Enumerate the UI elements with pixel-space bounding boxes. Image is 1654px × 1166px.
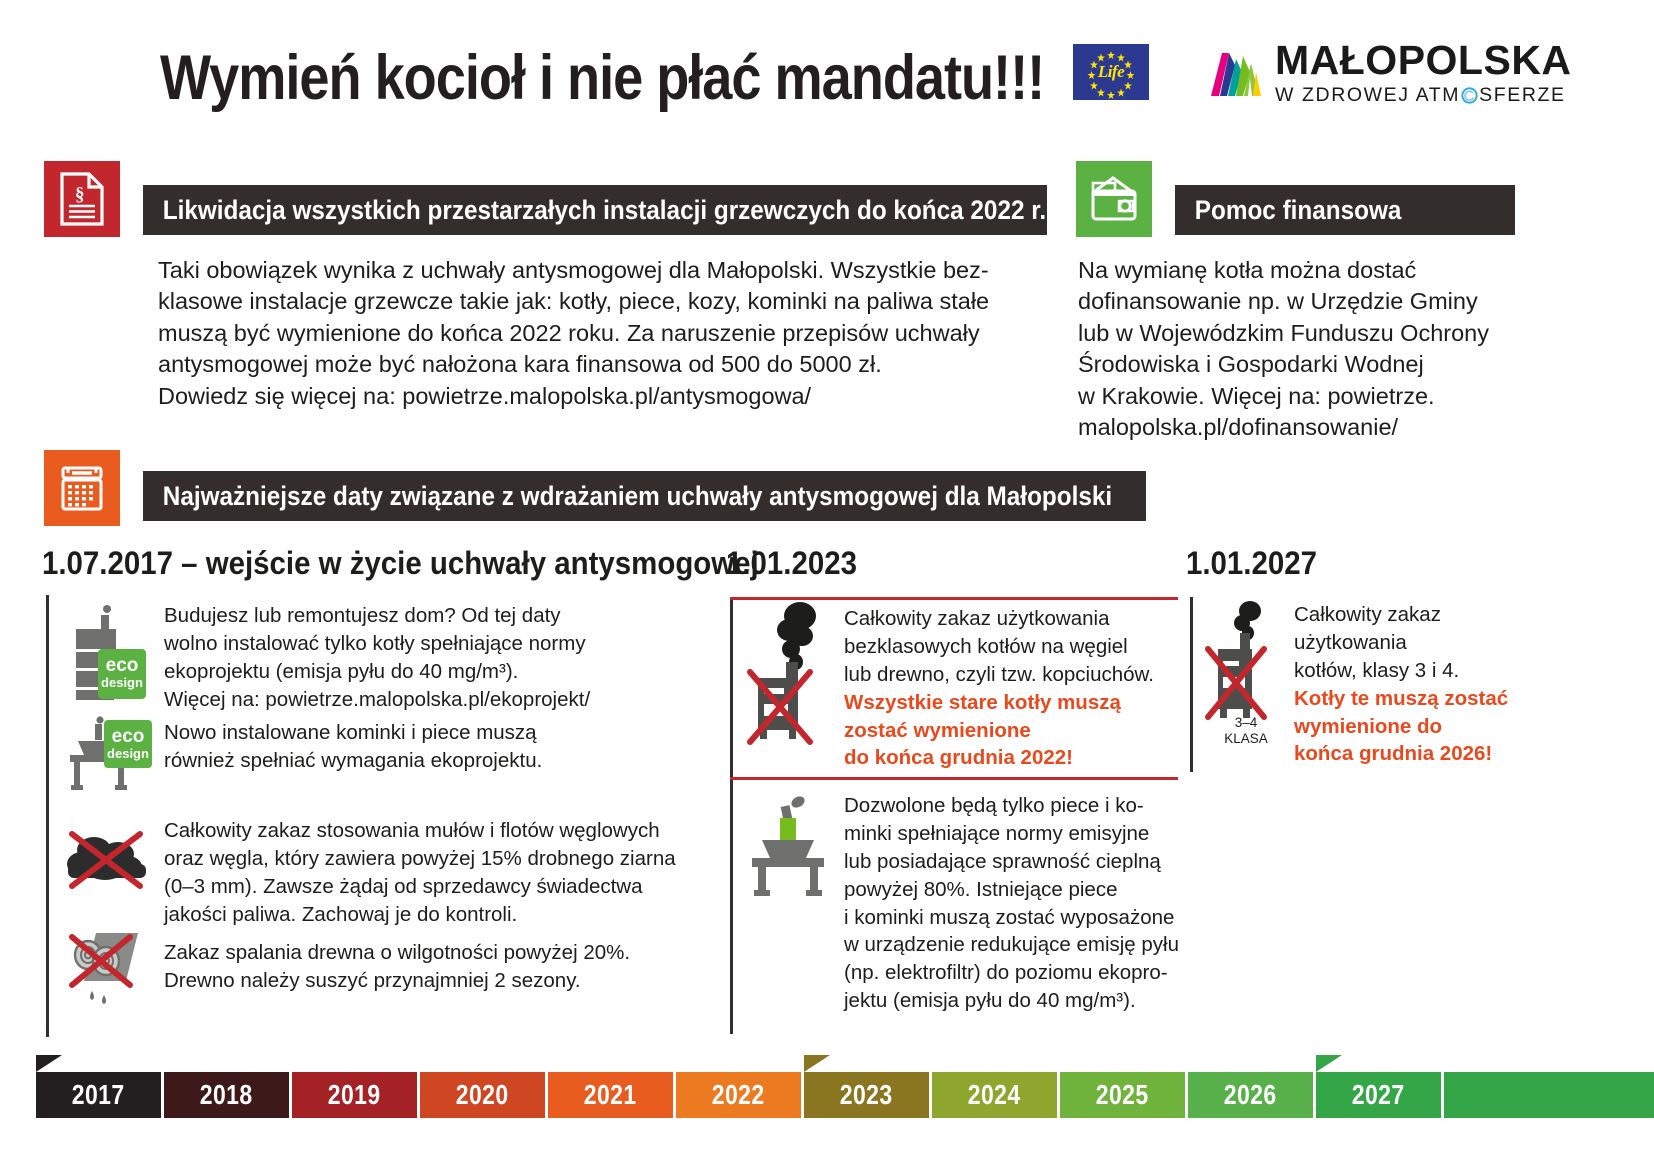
liquidation-line: klasowe instalacje grzewcze takie jak: k… — [158, 286, 989, 317]
item-line: Więcej na: powietrze.malopolska.pl/ekopr… — [164, 686, 590, 714]
coal-banned-icon — [60, 812, 156, 904]
boiler-class-line2: KLASA — [1204, 731, 1288, 747]
item-line: Zakaz spalania drewna o wilgotności powy… — [164, 939, 630, 967]
item-line: użytkowania — [1294, 629, 1508, 657]
year-block-2026: 2026 — [1188, 1072, 1313, 1118]
item-line: Drewno należy suszyć przynajmniej 2 sezo… — [164, 967, 630, 995]
item-line: Nowo instalowane kominki i piece muszą — [164, 719, 542, 747]
year-label: 2026 — [1224, 1079, 1277, 1111]
dates-heading-bar: Najważniejsze daty związane z wdrażaniem… — [143, 471, 1146, 521]
item-line: lub drewno, czyli tzw. kopciuchów. — [844, 661, 1154, 689]
year-label: 2017 — [72, 1079, 125, 1111]
svg-text:eco: eco — [112, 726, 145, 747]
item-line: Dozwolone będą tylko piece i ko- — [844, 792, 1179, 820]
year-label: 2020 — [456, 1079, 509, 1111]
wallet-icon-glyph — [1089, 175, 1139, 223]
rule-2023-mid — [730, 777, 1178, 780]
item-line: również spełniać wymagania ekoprojektu. — [164, 747, 542, 775]
year-block-2022: 2022 — [676, 1072, 801, 1118]
boiler-class-line1: 3–4 — [1204, 715, 1288, 731]
smoking-boiler-banned-glyph — [744, 600, 840, 765]
item-line: ekoprojektu (emisja pyłu do 40 mg/m³). — [164, 658, 590, 686]
item-line-highlight: Kotły te muszą zostać — [1294, 685, 1508, 713]
page-title: Wymień kocioł i nie płać mandatu!!! — [160, 42, 1044, 114]
malopolska-mountain-icon — [1209, 42, 1263, 98]
boiler-class-caption: 3–4 KLASA — [1204, 715, 1288, 747]
list-item: 3–4 KLASA Całkowity zakaz użytkowania ko… — [1204, 597, 1534, 772]
year-label: 2021 — [584, 1079, 637, 1111]
year-block-2023: 2023 — [804, 1072, 929, 1118]
class34-boiler-banned-icon: 3–4 KLASA — [1204, 597, 1288, 772]
liquidation-line: Dowiedz się więcej na: powietrze.malopol… — [158, 381, 989, 412]
header: Wymień kocioł i nie płać mandatu!!! — [0, 0, 1654, 148]
dates-heading: Najważniejsze daty związane z wdrażaniem… — [143, 481, 1112, 512]
malopolska-logo: MAŁOPOLSKA W ZDROWEJ ATM SFERZE — [1209, 40, 1572, 112]
year-label: 2024 — [968, 1079, 1021, 1111]
document-paragraph-icon: § — [44, 161, 120, 237]
boiler-ecodesign-icon: eco design — [60, 597, 156, 707]
item-line: lub posiadające sprawność cieplną — [844, 848, 1179, 876]
calendar-icon — [44, 450, 120, 526]
year-block-2025: 2025 — [1060, 1072, 1185, 1118]
item-line: Budujesz lub remontujesz dom? Od tej dat… — [164, 602, 590, 630]
column-divider-2023 — [730, 600, 733, 1034]
finance-paragraph: Na wymianę kotła można dostać dofinansow… — [1078, 255, 1489, 444]
wet-wood-banned-icon — [60, 925, 156, 1011]
document-icon-glyph: § — [59, 172, 105, 226]
smoking-boiler-banned-icon — [744, 600, 840, 765]
year-marker-flag — [36, 1055, 62, 1072]
item-line: (0–3 mm). Zawsze żądaj od sprzedawcy świ… — [164, 873, 676, 901]
year-block-2019: 2019 — [292, 1072, 417, 1118]
year-label: 2023 — [840, 1079, 893, 1111]
tagline-part-1: W ZDROWEJ ATM — [1275, 84, 1460, 107]
list-item: Całkowity zakaz stosowania mułów i flotó… — [60, 812, 720, 929]
finance-line: Środowiska i Gospodarki Wodnej — [1078, 349, 1489, 380]
eco-fireplace-glyph — [744, 790, 840, 900]
boiler-ecodesign-glyph: eco design — [60, 597, 156, 707]
column-title-2017: 1.07.2017 – wejście w życie uchwały anty… — [42, 545, 759, 582]
life-wordmark: Life — [1098, 62, 1124, 82]
item-line: i kominki muszą zostać wyposażone — [844, 904, 1179, 932]
column-title-2027: 1.01.2027 — [1186, 545, 1317, 582]
year-label: 2018 — [200, 1079, 253, 1111]
item-line: jektu (emisja pyłu do 40 mg/m³). — [844, 987, 1179, 1015]
item-line-highlight: Wszystkie stare kotły muszą — [844, 689, 1154, 717]
item-line: Całkowity zakaz — [1294, 601, 1508, 629]
calendar-icon-glyph — [58, 462, 106, 514]
svg-text:eco: eco — [106, 655, 139, 676]
wallet-house-icon — [1076, 161, 1152, 237]
list-item-text: Dozwolone będą tylko piece i ko- minki s… — [844, 790, 1179, 1015]
liquidation-paragraph: Taki obowiązek wynika z uchwały antysmog… — [158, 255, 989, 412]
liquidation-line: antysmogowej może być nałożona kara fina… — [158, 349, 989, 380]
item-line-highlight: zostać wymienione — [844, 717, 1154, 745]
year-timeline: 2017201820192020202120222023202420252026… — [36, 1072, 1654, 1118]
item-line: (np. elektrofiltr) do poziomu ekopro- — [844, 959, 1179, 987]
malopolska-tagline: W ZDROWEJ ATM SFERZE — [1275, 84, 1572, 107]
finance-line: dofinansowanie np. w Urzędzie Gminy — [1078, 286, 1489, 317]
tagline-part-2: SFERZE — [1479, 84, 1566, 107]
finance-line: malopolska.pl/dofinansowanie/ — [1078, 412, 1489, 443]
infographic-page: Wymień kocioł i nie płać mandatu!!! — [0, 0, 1654, 1166]
item-line: bezklasowych kotłów na węgiel — [844, 633, 1154, 661]
list-item: Zakaz spalania drewna o wilgotności powy… — [60, 925, 720, 1011]
svg-text:design: design — [107, 746, 149, 761]
item-line: w urządzenie redukujące emisję pyłu — [844, 931, 1179, 959]
item-line: Całkowity zakaz użytkowania — [844, 605, 1154, 633]
coal-banned-glyph — [60, 812, 156, 904]
wet-wood-banned-glyph — [60, 925, 156, 1011]
svg-text:§: § — [75, 184, 85, 205]
liquidation-heading: Likwidacja wszystkich przestarzałych ins… — [143, 195, 1046, 226]
eu-life-logo: Life — [1073, 44, 1149, 100]
finance-line: lub w Wojewódzkim Funduszu Ochrony — [1078, 318, 1489, 349]
item-line: kotłów, klasy 3 i 4. — [1294, 657, 1508, 685]
svg-text:design: design — [101, 675, 143, 690]
list-item-text: Budujesz lub remontujesz dom? Od tej dat… — [164, 597, 590, 714]
list-item-text: Całkowity zakaz stosowania mułów i flotó… — [164, 812, 676, 929]
year-block-2017: 2017 — [36, 1072, 161, 1118]
year-block-tail — [1444, 1072, 1654, 1118]
finance-line: Na wymianę kotła można dostać — [1078, 255, 1489, 286]
item-line: Całkowity zakaz stosowania mułów i flotó… — [164, 817, 676, 845]
item-line-highlight: końca grudnia 2026! — [1294, 740, 1508, 768]
year-block-2018: 2018 — [164, 1072, 289, 1118]
year-block-2027: 2027 — [1316, 1072, 1441, 1118]
column-divider-2027 — [1190, 597, 1193, 772]
list-item-text: Zakaz spalania drewna o wilgotności powy… — [164, 925, 630, 1011]
list-item: Dozwolone będą tylko piece i ko- minki s… — [744, 790, 1184, 1015]
item-line: oraz węgla, który zawiera powyżej 15% dr… — [164, 845, 676, 873]
list-item-text: Całkowity zakaz użytkowania bezklasowych… — [844, 600, 1154, 772]
year-label: 2022 — [712, 1079, 765, 1111]
fireplace-ecodesign-glyph: eco design — [60, 715, 156, 793]
year-label: 2027 — [1352, 1079, 1405, 1111]
eco-fireplace-icon — [744, 790, 840, 900]
item-line: powyżej 80%. Istniejące piece — [844, 876, 1179, 904]
item-line: minki spełniające normy emisyjne — [844, 820, 1179, 848]
year-block-2020: 2020 — [420, 1072, 545, 1118]
item-line-highlight: do końca grudnia 2022! — [844, 744, 1154, 772]
list-item-text: Całkowity zakaz użytkowania kotłów, klas… — [1294, 597, 1508, 772]
list-item: Całkowity zakaz użytkowania bezklasowych… — [744, 600, 1184, 772]
liquidation-heading-bar: Likwidacja wszystkich przestarzałych ins… — [143, 185, 1047, 235]
list-item: eco design Nowo instalowane kominki i pi… — [60, 715, 710, 793]
item-line-highlight: wymienione do — [1294, 713, 1508, 741]
list-item-text: Nowo instalowane kominki i piece muszą r… — [164, 715, 542, 793]
year-block-2024: 2024 — [932, 1072, 1057, 1118]
atmosphere-swirl-icon — [1461, 87, 1478, 104]
malopolska-wordmark: MAŁOPOLSKA — [1275, 40, 1572, 80]
year-label: 2025 — [1096, 1079, 1149, 1111]
year-marker-flag — [804, 1055, 830, 1072]
finance-heading-bar: Pomoc finansowa — [1175, 185, 1515, 235]
finance-line: w Krakowie. Więcej na: powietrze. — [1078, 381, 1489, 412]
column-divider-2017 — [46, 595, 49, 1037]
liquidation-line: Taki obowiązek wynika z uchwały antysmog… — [158, 255, 989, 286]
year-block-2021: 2021 — [548, 1072, 673, 1118]
liquidation-line: muszą być wymienione do końca 2022 roku.… — [158, 318, 989, 349]
column-title-2023: 1.01.2023 — [726, 545, 857, 582]
fireplace-ecodesign-icon: eco design — [60, 715, 156, 793]
item-line: wolno instalować tylko kotły spełniające… — [164, 630, 590, 658]
list-item: eco design Budujesz lub remontujesz dom?… — [60, 597, 710, 714]
year-label: 2019 — [328, 1079, 381, 1111]
year-marker-flag — [1316, 1055, 1342, 1072]
finance-heading: Pomoc finansowa — [1175, 195, 1401, 226]
